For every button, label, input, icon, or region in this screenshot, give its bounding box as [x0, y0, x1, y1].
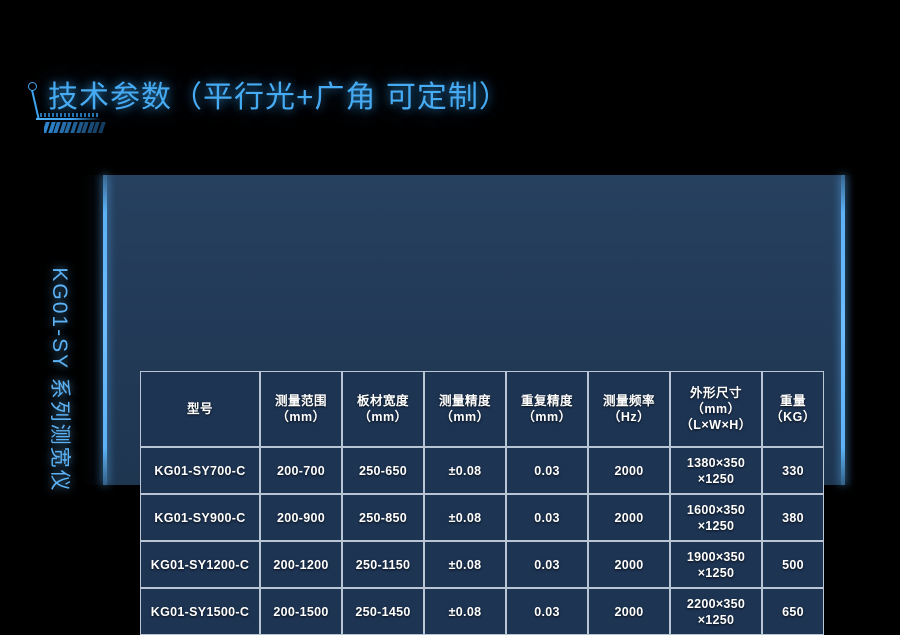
cell-model: KG01-SY900-C	[140, 494, 260, 541]
cell-plate-width: 250-650	[342, 447, 424, 494]
column-header-dimensions: 外形尺寸 （mm） （L×W×H）	[670, 371, 762, 447]
left-edge-glow-line	[103, 175, 107, 485]
header-line-2: （Hz）	[591, 409, 667, 425]
column-header-frequency: 测量频率 （Hz）	[588, 371, 670, 447]
header-line-3: （L×W×H）	[673, 417, 759, 433]
horizontal-accent-line	[36, 118, 102, 120]
header-line-2: （mm）	[673, 401, 759, 417]
cell-frequency: 2000	[588, 447, 670, 494]
cell-frequency: 2000	[588, 494, 670, 541]
cell-repeat-accuracy: 0.03	[506, 494, 588, 541]
slanted-bar	[98, 122, 106, 133]
cell-weight: 380	[762, 494, 824, 541]
cell-weight: 500	[762, 541, 824, 588]
cell-dimensions: 1600×350 ×1250	[670, 494, 762, 541]
header-line-1: 测量频率	[591, 393, 667, 409]
panel-right-mask	[845, 175, 900, 485]
slanted-bars-icon	[44, 122, 106, 133]
cell-model: KG01-SY700-C	[140, 447, 260, 494]
header-line-2: （KG）	[765, 409, 821, 425]
dimensions-line-1: 1380×350	[673, 455, 759, 471]
cell-range: 200-1200	[260, 541, 342, 588]
series-side-label: KG01-SY 系列测宽仪	[36, 240, 76, 520]
dimensions-line-1: 2200×350	[673, 596, 759, 612]
cell-range: 200-700	[260, 447, 342, 494]
table-row: KG01-SY700-C 200-700 250-650 ±0.08 0.03 …	[140, 447, 824, 494]
cell-range: 200-900	[260, 494, 342, 541]
header-line-1: 外形尺寸	[673, 385, 759, 401]
cell-accuracy: ±0.08	[424, 541, 506, 588]
title-block: 技术参数（平行光+广角 可定制）	[0, 60, 900, 140]
dimensions-line-1: 1900×350	[673, 549, 759, 565]
cell-plate-width: 250-850	[342, 494, 424, 541]
cell-model: KG01-SY1500-C	[140, 588, 260, 635]
table-row: KG01-SY900-C 200-900 250-850 ±0.08 0.03 …	[140, 494, 824, 541]
cell-frequency: 2000	[588, 588, 670, 635]
table-row: KG01-SY1500-C 200-1500 250-1450 ±0.08 0.…	[140, 588, 824, 635]
dimensions-line-2: ×1250	[673, 518, 759, 534]
cell-repeat-accuracy: 0.03	[506, 588, 588, 635]
cell-frequency: 2000	[588, 541, 670, 588]
header-line-1: 测量范围	[263, 393, 339, 409]
header-line-1: 重复精度	[509, 393, 585, 409]
dimensions-line-2: ×1250	[673, 565, 759, 581]
column-header-plate-width: 板材宽度 （mm）	[342, 371, 424, 447]
header-line-2: （mm）	[263, 409, 339, 425]
cell-model: KG01-SY1200-C	[140, 541, 260, 588]
dimensions-line-1: 1600×350	[673, 502, 759, 518]
right-edge-glow-line	[841, 175, 845, 485]
specifications-table: 型号 测量范围 （mm） 板材宽度 （mm） 测量精度 （mm） 重复精度 （m…	[140, 371, 824, 635]
table-row: KG01-SY1200-C 200-1200 250-1150 ±0.08 0.…	[140, 541, 824, 588]
column-header-measuring-range: 测量范围 （mm）	[260, 371, 342, 447]
cell-plate-width: 250-1150	[342, 541, 424, 588]
cell-repeat-accuracy: 0.03	[506, 447, 588, 494]
column-header-repeat-accuracy: 重复精度 （mm）	[506, 371, 588, 447]
header-line-1: 板材宽度	[345, 393, 421, 409]
header-line-2: （mm）	[345, 409, 421, 425]
header-line-2: （mm）	[427, 409, 503, 425]
cell-weight: 330	[762, 447, 824, 494]
page-title: 技术参数（平行光+广角 可定制）	[48, 72, 510, 116]
cell-plate-width: 250-1450	[342, 588, 424, 635]
column-header-accuracy: 测量精度 （mm）	[424, 371, 506, 447]
header-line-1: 型号	[143, 401, 257, 417]
header-line-2: （mm）	[509, 409, 585, 425]
column-header-model: 型号	[140, 371, 260, 447]
cell-range: 200-1500	[260, 588, 342, 635]
content-panel: KG01-SY 系列测宽仪 型号 测量范围 （mm） 板材宽度 （mm） 测量精…	[0, 175, 900, 485]
header-line-1: 测量精度	[427, 393, 503, 409]
cell-accuracy: ±0.08	[424, 494, 506, 541]
cell-accuracy: ±0.08	[424, 588, 506, 635]
cell-accuracy: ±0.08	[424, 447, 506, 494]
dimensions-line-2: ×1250	[673, 471, 759, 487]
cell-dimensions: 1900×350 ×1250	[670, 541, 762, 588]
cell-weight: 650	[762, 588, 824, 635]
dimensions-line-2: ×1250	[673, 612, 759, 628]
header-line-1: 重量	[765, 393, 821, 409]
column-header-weight: 重量 （KG）	[762, 371, 824, 447]
cell-dimensions: 2200×350 ×1250	[670, 588, 762, 635]
cell-repeat-accuracy: 0.03	[506, 541, 588, 588]
table-header-row: 型号 测量范围 （mm） 板材宽度 （mm） 测量精度 （mm） 重复精度 （m…	[140, 371, 824, 447]
diagonal-connector-line	[31, 90, 40, 120]
cell-dimensions: 1380×350 ×1250	[670, 447, 762, 494]
